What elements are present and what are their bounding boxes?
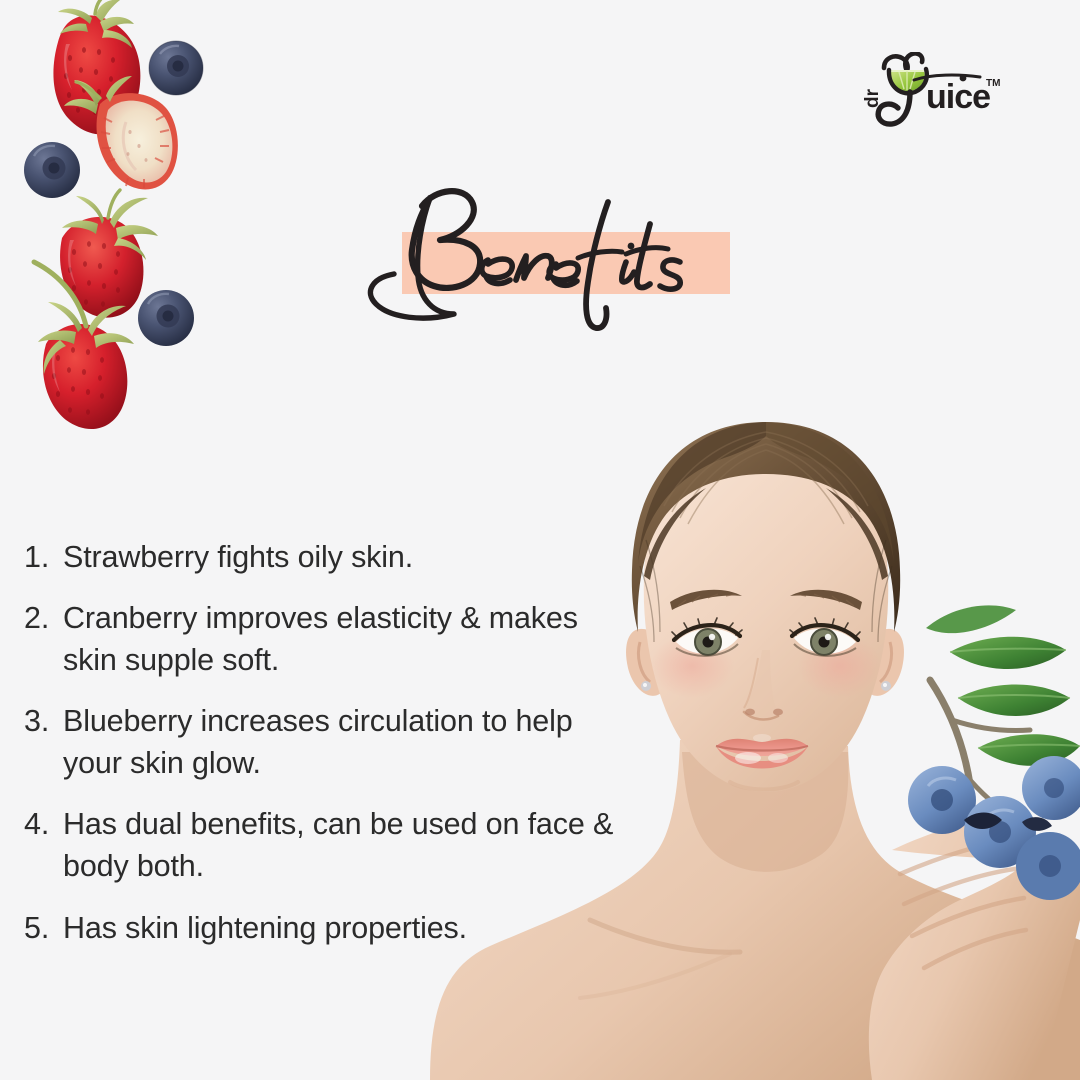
page-title: Benefits	[360, 180, 780, 350]
svg-text:uice: uice	[926, 78, 990, 116]
list-item-number: 4.	[24, 803, 63, 845]
strawberry-blueberry-cluster	[0, 0, 230, 450]
blueberry-left-mid	[24, 142, 80, 198]
svg-text:TM: TM	[986, 78, 1000, 89]
dr-juice-logo: dr uice TM	[862, 52, 1014, 132]
blueberry-branch-photo	[908, 605, 1080, 900]
woman-face-shoulder-photo	[430, 380, 1080, 1080]
blueberry-right-lower	[138, 290, 194, 346]
list-item-number: 1.	[24, 536, 63, 578]
list-item-number: 3.	[24, 700, 63, 742]
poster-canvas: dr uice TM	[0, 0, 1080, 1080]
list-item-number: 2.	[24, 597, 63, 639]
blueberry-upper-right	[149, 41, 203, 95]
page-title-text: Benefits	[360, 180, 780, 350]
list-item-number: 5.	[24, 907, 63, 949]
